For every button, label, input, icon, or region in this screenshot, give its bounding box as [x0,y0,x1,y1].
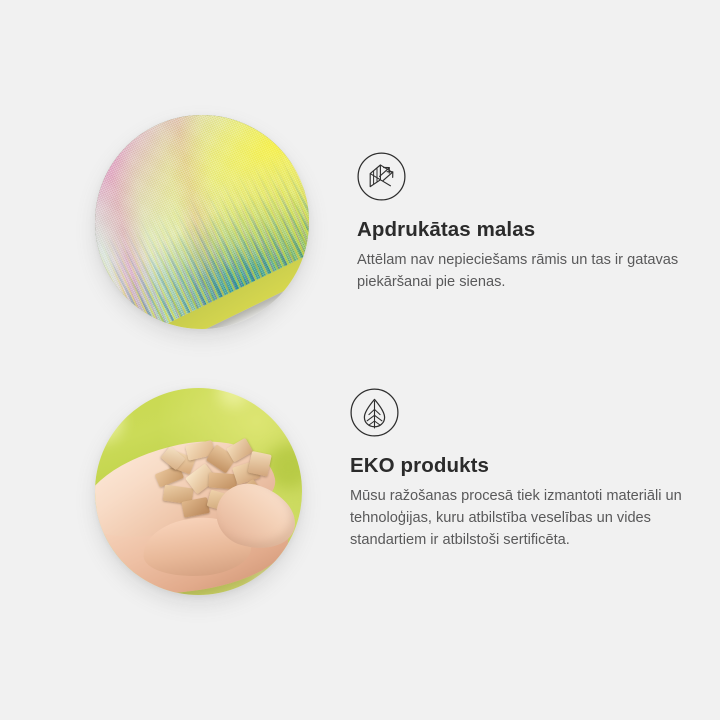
photo-wrapper-printed-edges [0,112,309,329]
leaf-icon [350,388,685,437]
text-column-eco-product: EKO produkts Mūsu ražošanas procesā tiek… [350,385,685,551]
feature-printed-edges: Apdrukātas malas Attēlam nav nepieciešam… [0,112,720,329]
canvas-wrapped-edges-icon [357,152,692,201]
feature-body-printed-edges: Attēlam nav nepieciešams rāmis un tas ir… [357,249,692,293]
feature-list-page: Apdrukātas malas Attēlam nav nepieciešam… [0,0,720,720]
text-column-printed-edges: Apdrukātas malas Attēlam nav nepieciešam… [357,112,692,293]
feature-eco-product: EKO produkts Mūsu ražošanas procesā tiek… [0,385,720,595]
hands-holding-wood-chips-photo [95,388,302,595]
photo-wrapper-eco-product [0,385,302,595]
canvas-print-corner-photo [95,115,309,329]
feature-title-eco-product: EKO produkts [350,454,685,479]
feature-body-eco-product: Mūsu ražošanas procesā tiek izmantoti ma… [350,485,685,552]
feature-title-printed-edges: Apdrukātas malas [357,218,692,243]
